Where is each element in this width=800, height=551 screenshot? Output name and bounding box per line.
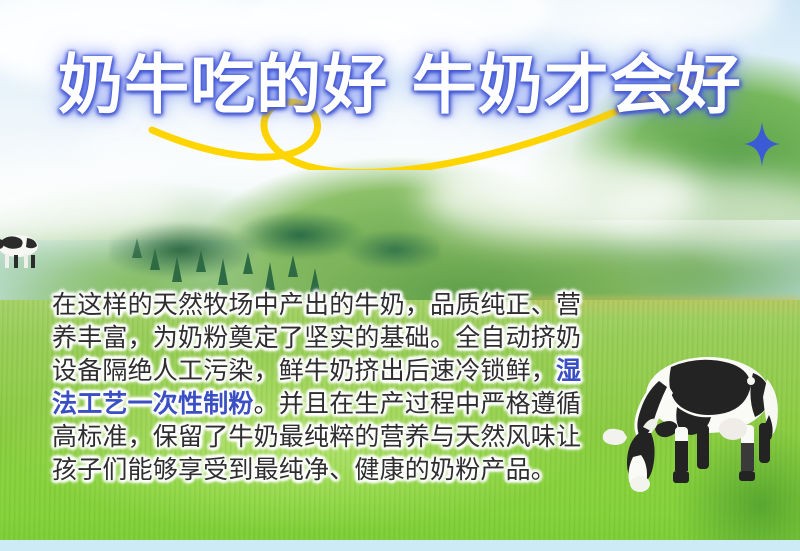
tree-icon bbox=[172, 256, 182, 282]
body-line: 孩子们能够享受到最纯净、健康的奶粉产品。 bbox=[52, 453, 572, 486]
tree-icon bbox=[265, 262, 275, 290]
body-text-highlight: 法工艺一次性制粉 bbox=[52, 389, 254, 418]
body-text-plain: 在这样的天然牧场中产出的牛奶，品质纯正、营 bbox=[52, 290, 581, 319]
body-copy-block: 在这样的天然牧场中产出的牛奶，品质纯正、营 养丰富，为奶粉奠定了坚实的基础。全自… bbox=[52, 288, 572, 486]
tree-icon bbox=[132, 238, 142, 258]
distant-holstein-cow bbox=[0, 228, 42, 274]
body-line: 养丰富，为奶粉奠定了坚实的基础。全自动挤奶 bbox=[52, 321, 572, 354]
product-poster: 奶牛吃的好 牛奶才会好 在这样的天然牧场中产出的牛奶，品质纯正、营 养丰富，为奶… bbox=[0, 0, 800, 551]
body-text-plain: 养丰富，为奶粉奠定了坚实的基础。全自动挤奶 bbox=[52, 323, 581, 352]
tree-icon bbox=[196, 250, 206, 272]
body-text-plain: 。并且在生产过程中严格遵循 bbox=[254, 389, 582, 418]
body-text-highlight: 湿 bbox=[556, 356, 581, 385]
tree-icon bbox=[150, 248, 160, 270]
tree-icon bbox=[218, 258, 228, 285]
body-line: 高标准，保留了牛奶最纯粹的营养与天然风味让 bbox=[52, 420, 572, 453]
body-text-plain: 高标准，保留了牛奶最纯粹的营养与天然风味让 bbox=[52, 422, 581, 451]
sparkle-icon bbox=[742, 120, 782, 168]
body-line: 设备隔绝人工污染，鲜牛奶挤出后速冷锁鲜，湿 bbox=[52, 354, 572, 387]
tree-icon bbox=[288, 255, 298, 277]
grazing-holstein-cow bbox=[593, 345, 783, 495]
bottom-color-bar bbox=[0, 540, 800, 551]
body-text-plain: 孩子们能够享受到最纯净、健康的奶粉产品。 bbox=[52, 455, 556, 484]
body-text-plain: 设备隔绝人工污染，鲜牛奶挤出后速冷锁鲜， bbox=[52, 356, 556, 385]
tree-icon bbox=[243, 252, 253, 274]
body-line: 在这样的天然牧场中产出的牛奶，品质纯正、营 bbox=[52, 288, 572, 321]
body-line: 法工艺一次性制粉。并且在生产过程中严格遵循 bbox=[52, 387, 572, 420]
